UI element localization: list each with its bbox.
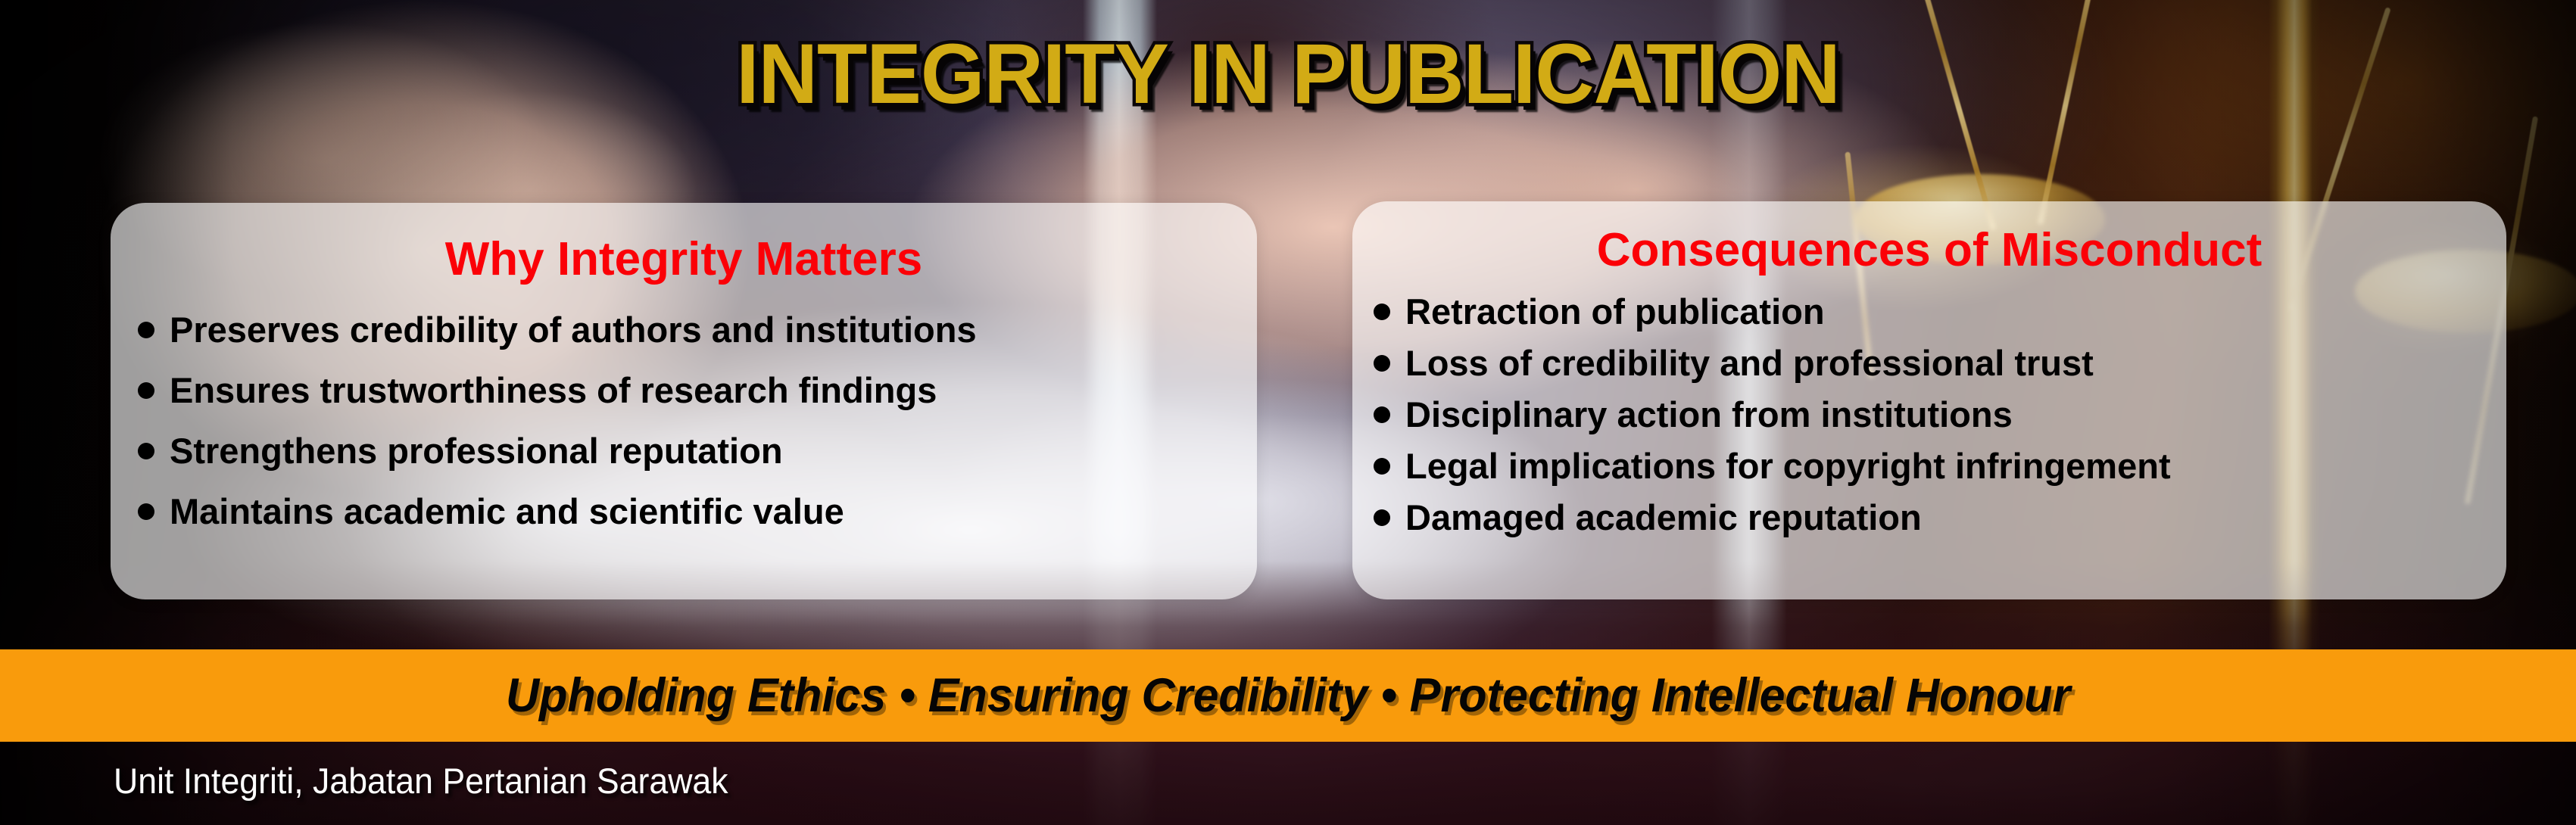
list-item-label: Disciplinary action from institutions — [1405, 394, 2013, 435]
bullet-dot-icon — [138, 503, 154, 520]
card-left-heading: Why Integrity Matters — [111, 236, 1257, 283]
card-right-heading: Consequences of Misconduct — [1352, 227, 2506, 274]
bullet-dot-icon — [1374, 304, 1390, 320]
list-item: Loss of credibility and professional tru… — [1374, 342, 2506, 384]
infographic-banner: INTEGRITY IN PUBLICATION Why Integrity M… — [0, 0, 2576, 825]
bullet-dot-icon — [1374, 458, 1390, 475]
list-item-label: Damaged academic reputation — [1405, 497, 1922, 538]
list-item-label: Ensures trustworthiness of research find… — [170, 369, 937, 411]
list-item-label: Loss of credibility and professional tru… — [1405, 342, 2094, 384]
card-consequences-of-misconduct: Consequences of Misconduct Retraction of… — [1352, 201, 2506, 599]
bullet-dot-icon — [138, 382, 154, 399]
card-right-bullet-list: Retraction of publication Loss of credib… — [1352, 291, 2506, 538]
bullet-dot-icon — [138, 322, 154, 338]
tagline-bar: Upholding Ethics • Ensuring Credibility … — [0, 649, 2576, 742]
list-item: Preserves credibility of authors and ins… — [138, 309, 1257, 350]
list-item-label: Retraction of publication — [1405, 291, 1825, 332]
list-item-label: Preserves credibility of authors and ins… — [170, 309, 977, 350]
list-item-label: Legal implications for copyright infring… — [1405, 445, 2171, 487]
list-item: Legal implications for copyright infring… — [1374, 445, 2506, 487]
list-item: Damaged academic reputation — [1374, 497, 2506, 538]
bullet-dot-icon — [1374, 406, 1390, 423]
credit-line: Unit Integriti, Jabatan Pertanian Sarawa… — [114, 760, 728, 802]
list-item: Maintains academic and scientific value — [138, 490, 1257, 532]
bullet-dot-icon — [1374, 509, 1390, 526]
list-item: Disciplinary action from institutions — [1374, 394, 2506, 435]
list-item: Strengthens professional reputation — [138, 430, 1257, 472]
card-left-bullet-list: Preserves credibility of authors and ins… — [111, 309, 1257, 532]
banner-title: INTEGRITY IN PUBLICATION — [39, 32, 2537, 117]
bullet-dot-icon — [1374, 355, 1390, 372]
list-item-label: Maintains academic and scientific value — [170, 490, 844, 532]
card-why-integrity-matters: Why Integrity Matters Preserves credibil… — [111, 203, 1257, 599]
bullet-dot-icon — [138, 443, 154, 459]
list-item: Retraction of publication — [1374, 291, 2506, 332]
list-item-label: Strengthens professional reputation — [170, 430, 783, 472]
tagline-text: Upholding Ethics • Ensuring Credibility … — [506, 668, 2070, 723]
list-item: Ensures trustworthiness of research find… — [138, 369, 1257, 411]
